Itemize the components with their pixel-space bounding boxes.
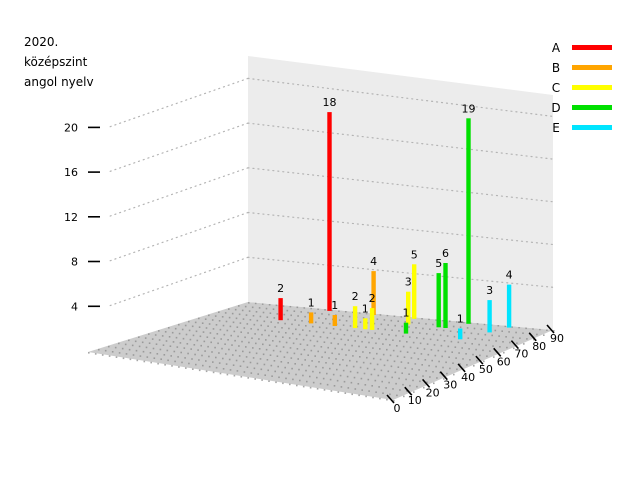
x-axis-tick-label: 80 [532,340,546,353]
bar-body [437,273,441,327]
x-axis-tick-label: 50 [479,363,493,376]
bar-value-label: 1 [331,299,338,312]
x-axis-tick-label: 90 [550,332,564,345]
bar-value-label: 18 [323,96,337,109]
bar-body [412,264,416,319]
bar-body [370,308,374,330]
bar-body [507,285,511,328]
x-axis-tick-label: 20 [426,386,440,399]
legend-label: C [552,81,560,95]
bar-value-label: 2 [277,282,284,295]
bar-body [333,315,337,326]
three-d-bar-chart: 2020. középszint angol nyelv 48121620 01… [0,0,640,480]
bar-body [353,306,357,328]
legend-label: D [551,101,560,115]
bar-body [404,323,408,334]
x-axis-tick-label: 70 [514,348,528,361]
bar-body [309,312,313,323]
y-axis-tick-label: 12 [64,211,78,224]
x-axis-tick-label: 10 [408,394,422,407]
x-axis-tick-label: 60 [497,355,511,368]
bar-body [363,318,367,329]
x-axis-tick-label: 40 [461,371,475,384]
bar-body [327,112,331,311]
title-line-3: angol nyelv [24,75,94,89]
title-line-1: 2020. [24,35,58,49]
bar-value-label: 5 [411,248,418,261]
legend-swatch [572,85,612,90]
legend-label: B [552,61,560,75]
chart-screenshot: 2020. középszint angol nyelv 48121620 01… [0,0,640,480]
y-axis-tick-label: 20 [64,121,78,134]
bar-value-label: 1 [403,307,410,320]
y-axis-tick-label: 8 [71,256,78,269]
bar-body [487,300,491,332]
bar-value-label: 1 [457,313,464,326]
bar-body [466,118,470,323]
title-line-2: középszint [24,55,88,69]
bar-value-label: 3 [486,284,493,297]
bar-value-label: 4 [506,269,513,282]
x-axis-tick-label: 30 [443,379,457,392]
bar-value-label: 4 [370,255,377,268]
bar-body [458,329,462,340]
legend-label: A [552,41,561,55]
bar-body [443,263,447,328]
bar-value-label: 2 [352,290,359,303]
y-axis-tick-label: 4 [71,300,78,313]
legend-swatch [572,45,612,50]
bar-body [278,298,282,320]
bar-value-label: 6 [442,247,449,260]
legend-swatch [572,125,612,130]
bar-value-label: 2 [369,292,376,305]
legend-swatch [572,105,612,110]
legend-swatch [572,65,612,70]
legend-label: E [552,121,560,135]
bar-value-label: 19 [462,102,476,115]
y-axis-tick-label: 16 [64,166,78,179]
bar-value-label: 3 [405,276,412,289]
x-axis-tick-label: 0 [394,402,401,415]
bar-value-label: 1 [308,296,315,309]
